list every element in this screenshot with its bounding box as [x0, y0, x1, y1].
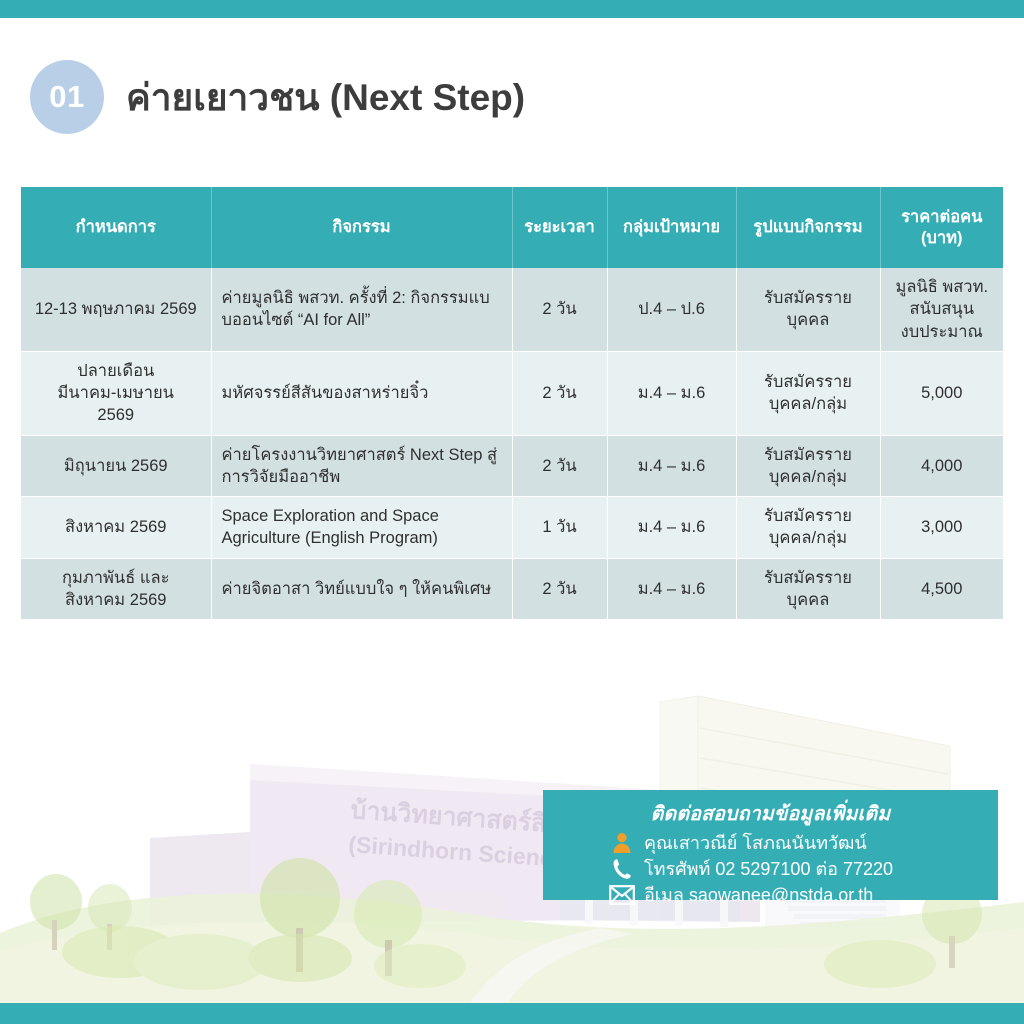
person-icon	[609, 831, 635, 855]
envelope-icon	[609, 883, 635, 907]
cell-duration: 1 วัน	[512, 497, 607, 559]
cell-format: รับสมัครรายบุคคล/กลุ่ม	[736, 435, 880, 497]
contact-email-address: อีเมล saowanee@nstda.or.th	[644, 886, 873, 904]
table-row: ปลายเดือนมีนาคม-เมษายน2569 มหัศจรรย์สีสั…	[21, 351, 1003, 435]
phone-icon	[609, 857, 635, 881]
cell-target: ป.4 – ป.6	[607, 268, 736, 351]
column-header-date: กำหนดการ	[21, 187, 211, 268]
table-row: กุมภาพันธ์ และสิงหาคม 2569 ค่ายจิตอาสา ว…	[21, 558, 1003, 620]
cell-duration: 2 วัน	[512, 268, 607, 351]
contact-email-line: อีเมล saowanee@nstda.or.th	[609, 882, 998, 907]
table-row: สิงหาคม 2569 Space Exploration and Space…	[21, 497, 1003, 559]
cell-price: 3,000	[880, 497, 1003, 559]
cell-target: ม.4 – ม.6	[607, 435, 736, 497]
step-number-badge: 01	[30, 60, 104, 134]
top-accent-bar	[0, 0, 1024, 18]
step-number-label: 01	[49, 79, 84, 115]
table-row: 12-13 พฤษภาคม 2569 ค่ายมูลนิธิ พสวท. ครั…	[21, 268, 1003, 351]
cell-price: 5,000	[880, 351, 1003, 435]
column-header-price-line2: (บาท)	[921, 229, 963, 247]
cell-price: 4,500	[880, 558, 1003, 620]
column-header-format: รูปแบบกิจกรรม	[736, 187, 880, 268]
cell-activity: ค่ายโครงงานวิทยาศาสตร์ Next Step สู่การว…	[211, 435, 512, 497]
table-header-row: กำหนดการ กิจกรรม ระยะเวลา กลุ่มเป้าหมาย …	[21, 187, 1003, 268]
schedule-table: กำหนดการ กิจกรรม ระยะเวลา กลุ่มเป้าหมาย …	[21, 187, 1003, 620]
cell-date: มิถุนายน 2569	[21, 435, 211, 497]
table-row: มิถุนายน 2569 ค่ายโครงงานวิทยาศาสตร์ Nex…	[21, 435, 1003, 497]
column-header-price-line1: ราคาต่อคน	[901, 208, 982, 226]
cell-target: ม.4 – ม.6	[607, 351, 736, 435]
cell-activity: ค่ายจิตอาสา วิทย์แบบใจ ๆ ให้คนพิเศษ	[211, 558, 512, 620]
contact-info-box: ติดต่อสอบถามข้อมูลเพิ่มเติม คุณเสาวณีย์ …	[543, 790, 998, 900]
column-header-duration: ระยะเวลา	[512, 187, 607, 268]
cell-date: 12-13 พฤษภาคม 2569	[21, 268, 211, 351]
contact-phone-number: โทรศัพท์ 02 5297100 ต่อ 77220	[644, 860, 893, 878]
cell-date: สิงหาคม 2569	[21, 497, 211, 559]
cell-target: ม.4 – ม.6	[607, 497, 736, 559]
cell-format: รับสมัครรายบุคคล/กลุ่ม	[736, 351, 880, 435]
column-header-target: กลุ่มเป้าหมาย	[607, 187, 736, 268]
contact-person-line: คุณเสาวณีย์ โสภณนันทวัฒน์	[609, 830, 998, 855]
cell-price: 4,000	[880, 435, 1003, 497]
cell-activity: Space Exploration and Space Agriculture …	[211, 497, 512, 559]
cell-duration: 2 วัน	[512, 351, 607, 435]
cell-format: รับสมัครรายบุคคล/กลุ่ม	[736, 497, 880, 559]
cell-format: รับสมัครรายบุคคล	[736, 558, 880, 620]
cell-duration: 2 วัน	[512, 558, 607, 620]
cell-activity: มหัศจรรย์สีสันของสาหร่ายจิ๋ว	[211, 351, 512, 435]
cell-date: ปลายเดือนมีนาคม-เมษายน2569	[21, 351, 211, 435]
page-title: ค่ายเยาวชน (Next Step)	[126, 79, 525, 116]
cell-target: ม.4 – ม.6	[607, 558, 736, 620]
cell-price: มูลนิธิ พสวท.สนับสนุนงบประมาณ	[880, 268, 1003, 351]
column-header-price: ราคาต่อคน (บาท)	[880, 187, 1003, 268]
column-header-activity: กิจกรรม	[211, 187, 512, 268]
contact-person-name: คุณเสาวณีย์ โสภณนันทวัฒน์	[644, 834, 867, 852]
cell-duration: 2 วัน	[512, 435, 607, 497]
cell-activity: ค่ายมูลนิธิ พสวท. ครั้งที่ 2: กิจกรรมแบบ…	[211, 268, 512, 351]
page-header: 01 ค่ายเยาวชน (Next Step)	[30, 60, 525, 134]
cell-date: กุมภาพันธ์ และสิงหาคม 2569	[21, 558, 211, 620]
bottom-accent-bar	[0, 1003, 1024, 1024]
contact-phone-line: โทรศัพท์ 02 5297100 ต่อ 77220	[609, 856, 998, 881]
contact-heading: ติดต่อสอบถามข้อมูลเพิ่มเติม	[543, 798, 998, 829]
cell-format: รับสมัครรายบุคคล	[736, 268, 880, 351]
